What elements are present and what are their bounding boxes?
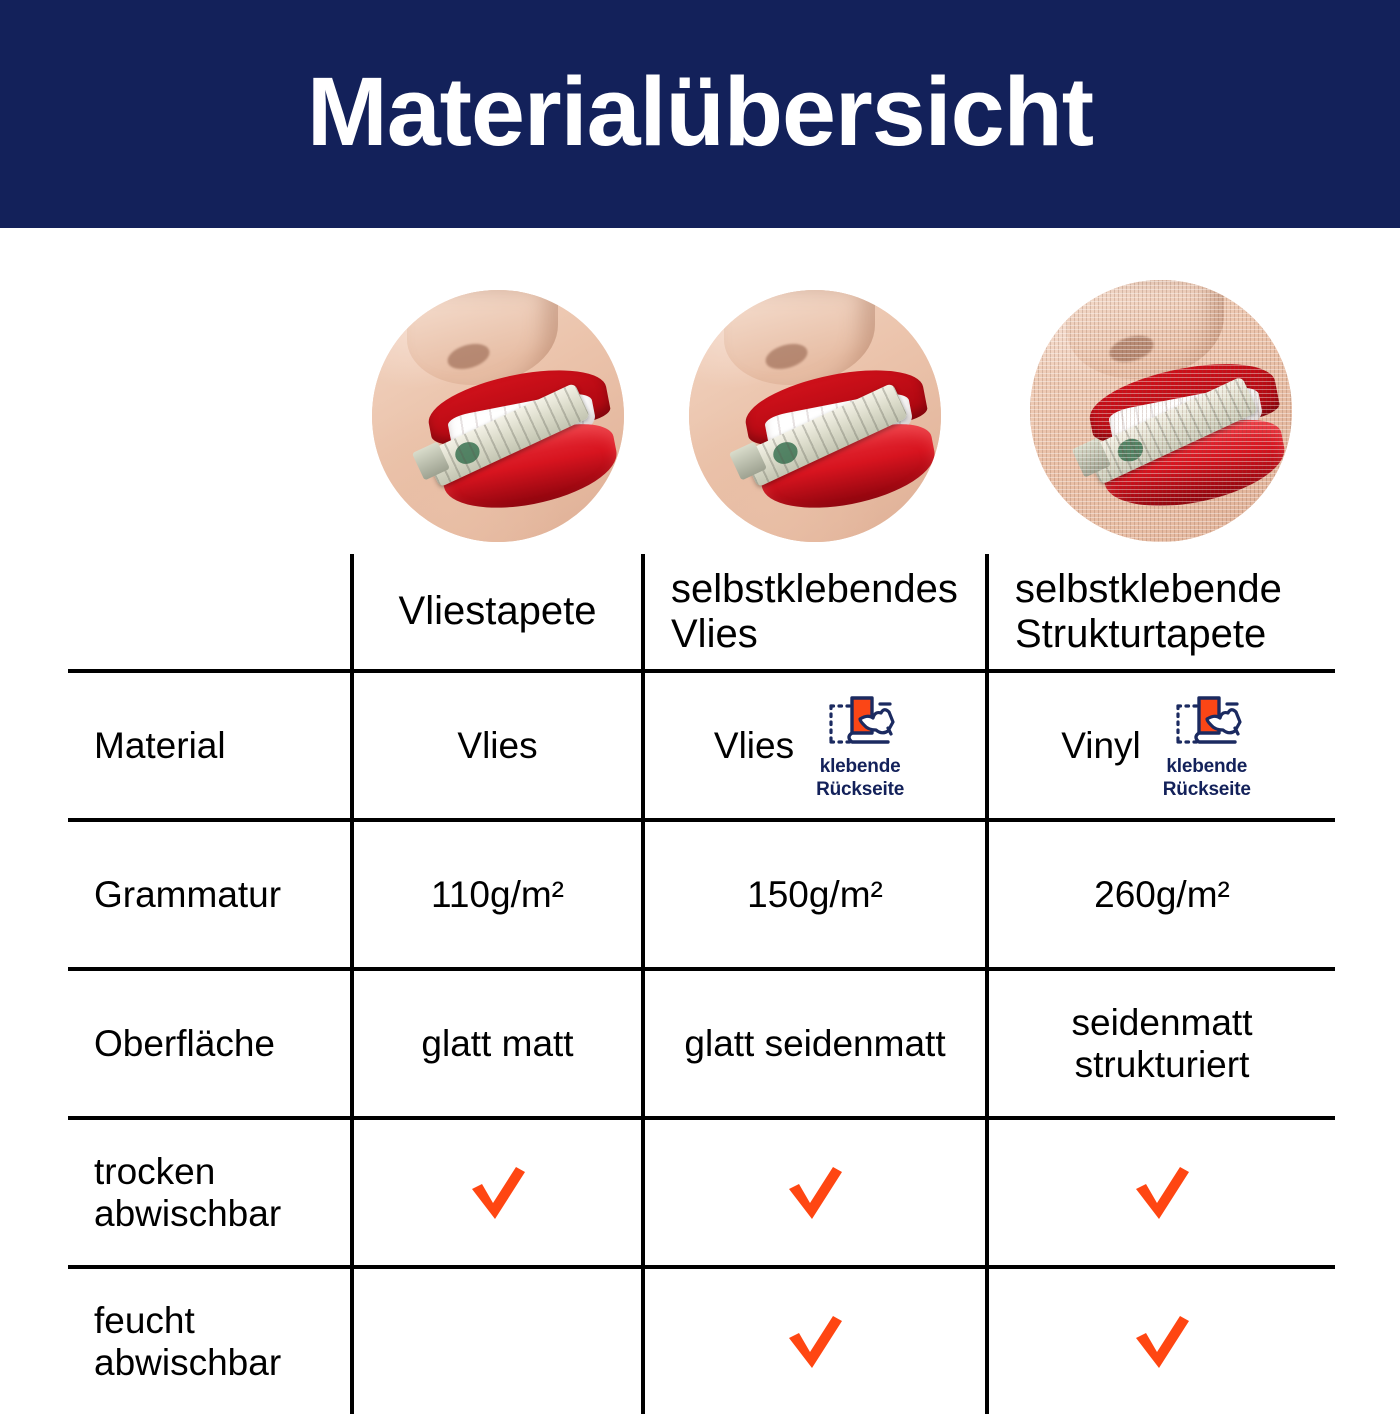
badge-line-1: klebende [820, 757, 901, 777]
check-icon [783, 1162, 847, 1224]
column-header-selbstklebende-strukturtapete: selbstklebende Strukturtapete [987, 554, 1335, 671]
product-image-cell-1[interactable] [352, 250, 643, 554]
cell-grammatur-vliestapete: 110g/m² [352, 820, 643, 969]
cell-value: Vlies [714, 725, 794, 766]
badge-line-1: klebende [1166, 757, 1247, 777]
cell-oberflaeche-vliestapete: glatt matt [352, 969, 643, 1118]
page-header-band: Materialübersicht [0, 0, 1400, 228]
table-row-oberflaeche: Oberfläche glatt matt glatt seidenmatt s… [68, 969, 1335, 1118]
cell-value: glatt seidenmatt [684, 1023, 945, 1064]
product-thumbnail-selbstklebendes-vlies[interactable] [689, 290, 941, 542]
cell-oberflaeche-selbstklebende-strukturtapete: seidenmatt strukturiert [987, 969, 1335, 1118]
cell-grammatur-selbstklebende-strukturtapete: 260g/m² [987, 820, 1335, 969]
cell-material-selbstklebende-strukturtapete: Vinyl [987, 671, 1335, 820]
cell-value: Vlies [457, 725, 537, 766]
table-row-material: Material Vlies Vlies [68, 671, 1335, 820]
cell-trocken-vliestapete [352, 1118, 643, 1267]
table-row-feucht-abwischbar: feucht abwischbar [68, 1267, 1335, 1414]
product-image-cell-2[interactable] [643, 250, 987, 554]
cell-value: Vinyl [1061, 725, 1141, 766]
product-thumbnail-selbstklebende-strukturtapete[interactable] [1030, 280, 1292, 542]
cell-value: 150g/m² [747, 874, 883, 915]
cell-oberflaeche-selbstklebendes-vlies: glatt seidenmatt [643, 969, 987, 1118]
row-label-cell: trocken abwischbar [68, 1118, 352, 1267]
row-label-cell: Oberfläche [68, 969, 352, 1118]
cell-feucht-vliestapete [352, 1267, 643, 1414]
column-header-vliestapete: Vliestapete [352, 554, 643, 671]
column-header-selbstklebendes-vlies: selbstklebendes Vlies [643, 554, 987, 671]
row-label: feucht abwischbar [68, 1300, 350, 1383]
cell-trocken-selbstklebende-strukturtapete [987, 1118, 1335, 1267]
cell-feucht-selbstklebende-strukturtapete [987, 1267, 1335, 1414]
check-icon [783, 1311, 847, 1373]
table-row-grammatur: Grammatur 110g/m² 150g/m² 260g/m² [68, 820, 1335, 969]
column-header-label: Vliestapete [354, 589, 641, 634]
product-image-row [68, 250, 1335, 554]
row-label-cell: Material [68, 671, 352, 820]
cell-grammatur-selbstklebendes-vlies: 150g/m² [643, 820, 987, 969]
check-icon [1130, 1311, 1194, 1373]
cell-feucht-selbstklebendes-vlies [643, 1267, 987, 1414]
peeling-adhesive-backing-icon [822, 692, 898, 754]
cell-trocken-selbstklebendes-vlies [643, 1118, 987, 1267]
cell-material-vliestapete: Vlies [352, 671, 643, 820]
product-image-cell-3[interactable] [987, 250, 1335, 554]
product-thumbnail-vliestapete[interactable] [372, 290, 624, 542]
image-row-spacer [68, 250, 352, 554]
cell-value: 110g/m² [431, 874, 564, 915]
row-label: Oberfläche [68, 1023, 350, 1064]
row-label-cell: feucht abwischbar [68, 1267, 352, 1414]
row-label-cell: Grammatur [68, 820, 352, 969]
material-overview-table-wrap: Vliestapete selbstklebendes Vlies selbst… [68, 250, 1335, 1382]
badge-line-2: Rückseite [1163, 780, 1251, 800]
column-header-label: selbstklebende Strukturtapete [989, 567, 1335, 657]
check-icon [1130, 1162, 1194, 1224]
peeling-adhesive-backing-icon [1169, 692, 1245, 754]
badge-line-2: Rückseite [816, 780, 904, 800]
photo-structure-texture-overlay [1030, 280, 1292, 542]
check-icon [466, 1162, 530, 1224]
table-row-trocken-abwischbar: trocken abwischbar [68, 1118, 1335, 1267]
row-label: Grammatur [68, 874, 350, 915]
row-label: Material [68, 725, 350, 766]
cell-value: glatt matt [421, 1023, 573, 1064]
column-header-corner [68, 554, 352, 671]
row-label: trocken abwischbar [68, 1151, 350, 1234]
cell-value: 260g/m² [1094, 874, 1230, 915]
column-header-label: selbstklebendes Vlies [645, 567, 985, 657]
column-header-row: Vliestapete selbstklebendes Vlies selbst… [68, 554, 1335, 671]
material-overview-table: Vliestapete selbstklebendes Vlies selbst… [68, 250, 1335, 1414]
badge-klebende-rueckseite: klebende Rückseite [804, 692, 916, 800]
badge-klebende-rueckseite: klebende Rückseite [1151, 692, 1263, 800]
page-title: Materialübersicht [307, 63, 1093, 166]
cell-material-selbstklebendes-vlies: Vlies [643, 671, 987, 820]
cell-value: seidenmatt strukturiert [1072, 1002, 1253, 1084]
